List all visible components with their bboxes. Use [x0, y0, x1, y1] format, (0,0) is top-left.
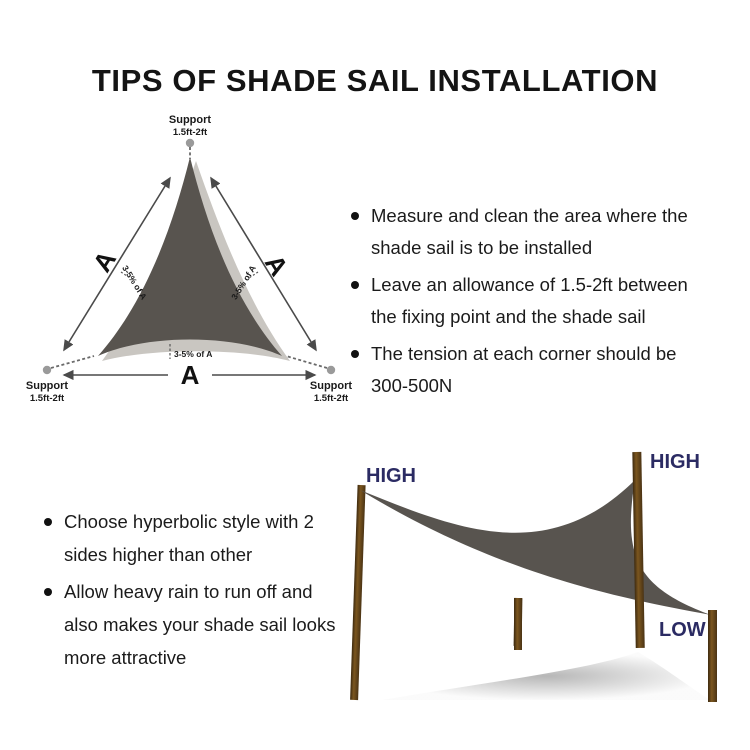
tips-list-bottom: Choose hyperbolic style with 2 sides hig… [42, 505, 342, 678]
support-bottom-left-tether [51, 356, 94, 368]
hyperbolic-shade-sail-diagram: HIGH HIGH LOW [338, 438, 738, 738]
tips-list-top: Measure and clean the area where the sha… [349, 200, 711, 407]
corner-label-high-right: HIGH [650, 451, 700, 473]
support-top-label: Support [169, 114, 211, 126]
list-item: Measure and clean the area where the sha… [349, 200, 711, 264]
support-bottom-right-tether [286, 356, 327, 368]
list-item: Leave an allowance of 1.5-2ft between th… [349, 269, 711, 333]
dimension-note-bottom: 3-5% of A [174, 349, 212, 359]
triangle-shade-sail-diagram: Support 1.5ft-2ft Support 1.5ft-2ft Supp… [20, 112, 360, 412]
support-bottom-left-anchor-dot [43, 366, 51, 374]
dimension-note-left: 3-5% of A [120, 263, 149, 301]
support-top-dimension: 1.5ft-2ft [173, 127, 208, 138]
support-bottom-left-dimension: 1.5ft-2ft [30, 393, 65, 404]
corner-label-low: LOW [659, 619, 706, 641]
support-bottom-left-label: Support [26, 380, 68, 392]
post-back-left [350, 485, 365, 700]
infographic-page: TIPS OF SHADE SAIL INSTALLATION Support … [0, 0, 750, 750]
triangle-sail-shape [98, 157, 282, 356]
sail-membrane [360, 480, 711, 615]
support-bottom-right-anchor-dot [327, 366, 335, 374]
corner-label-high-left: HIGH [366, 465, 416, 487]
list-item: Choose hyperbolic style with 2 sides hig… [42, 505, 342, 571]
support-top-anchor-dot [186, 139, 194, 147]
post-front-right [708, 610, 717, 702]
post-middle-lower [514, 598, 522, 650]
dimension-label-right-A: A [259, 249, 295, 281]
ground-shadow [382, 652, 710, 700]
list-item: Allow heavy rain to run off and also mak… [42, 575, 342, 674]
dimension-label-left-A: A [87, 245, 123, 277]
page-title: TIPS OF SHADE SAIL INSTALLATION [0, 63, 750, 99]
post-back-right [632, 452, 644, 648]
list-item: The tension at each corner should be 300… [349, 338, 711, 402]
support-bottom-right-label: Support [310, 380, 352, 392]
support-bottom-right-dimension: 1.5ft-2ft [314, 393, 349, 404]
dimension-label-bottom-A: A [181, 360, 200, 390]
